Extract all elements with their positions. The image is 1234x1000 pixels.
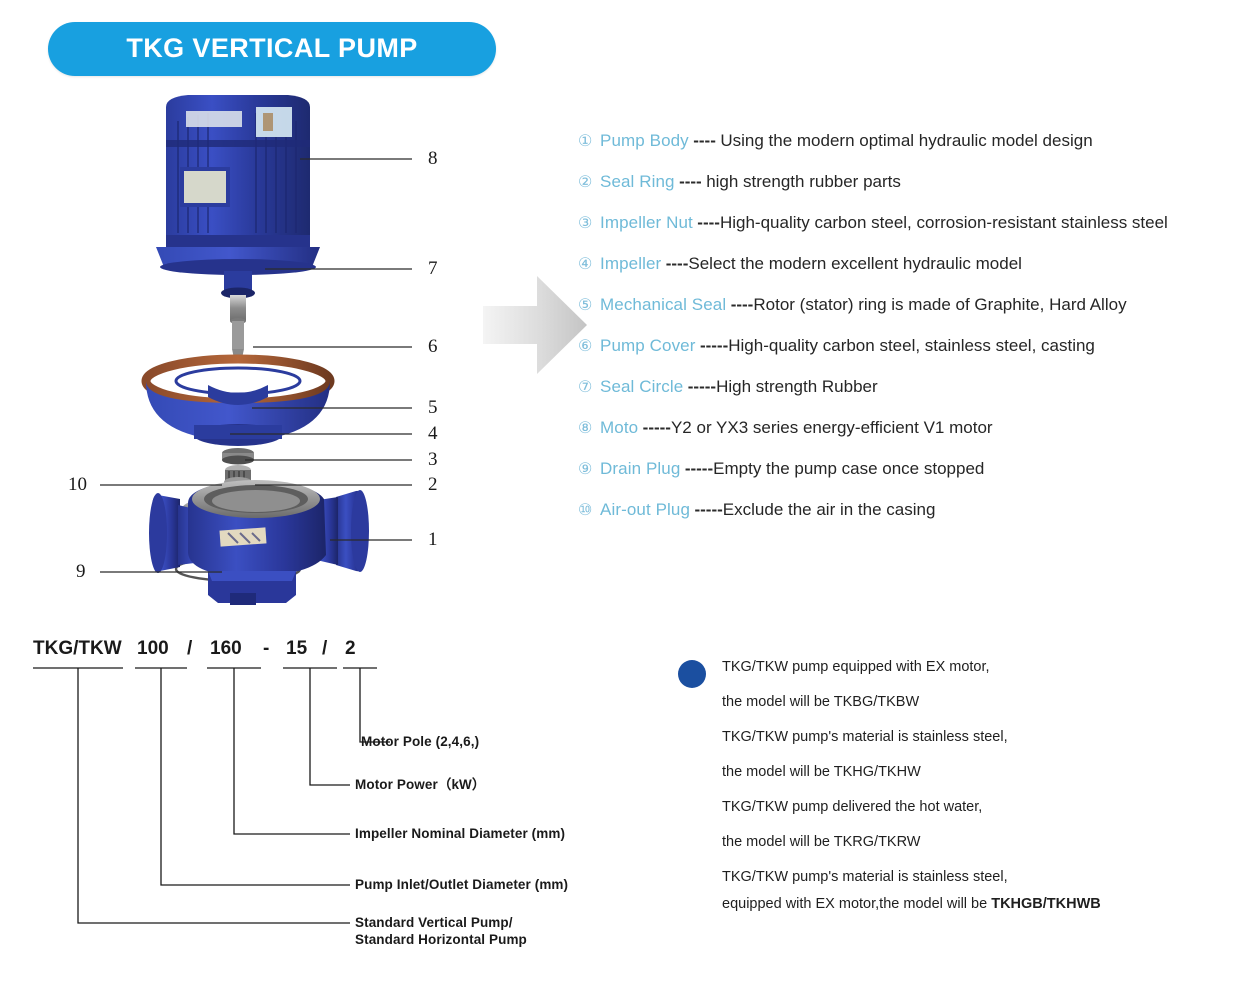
variant-note-line-6: the model will be TKRG/TKRW [722,830,1218,865]
variant-note-line-5: TKG/TKW pump delivered the hot water, [722,795,1218,830]
legend-dash-9: ----- [685,459,713,478]
legend-marker-icon-2: ② [578,168,600,198]
variant-note-line-8: equipped with EX motor,the model will be… [722,892,1218,919]
branch-label-inlet-outlet: Pump Inlet/Outlet Diameter (mm) [355,876,568,893]
legend-description-4: Select the modern excellent hydraulic mo… [688,254,1022,273]
pump-product-infographic: TKG VERTICAL PUMP [0,0,1234,1000]
branch-label-standard-pump: Standard Vertical Pump/ Standard Horizon… [355,914,527,948]
callout-number-6: 6 [428,337,438,356]
legend-description-5: Rotor (stator) ring is made of Graphite,… [753,295,1126,314]
legend-item-4: ④Impeller ----Select the modern excellen… [578,249,1228,290]
callout-number-2: 2 [428,475,438,494]
variant-note-line-8-model: TKHGB/TKHWB [991,896,1101,912]
mechanical-seal-part [222,448,254,487]
callout-number-1: 1 [428,530,438,549]
parts-legend: ①Pump Body ---- Using the modern optimal… [578,126,1228,536]
seal-ring-part [176,557,300,581]
legend-part-name-6: Pump Cover [600,336,695,355]
legend-dash-6: ----- [700,336,728,355]
legend-marker-icon-1: ① [578,127,600,157]
legend-item-9: ⑨Drain Plug -----Empty the pump case onc… [578,454,1228,495]
legend-item-1: ①Pump Body ---- Using the modern optimal… [578,126,1228,167]
legend-item-2: ②Seal Ring ---- high strength rubber par… [578,167,1228,208]
legend-description-7: High strength Rubber [716,377,878,396]
page-title: TKG VERTICAL PUMP [48,33,496,64]
callout-number-7: 7 [428,259,438,278]
callout-number-8: 8 [428,149,438,168]
legend-part-name-7: Seal Circle [600,377,683,396]
legend-part-name-8: Moto [600,418,638,437]
legend-dash-4: ---- [666,254,689,273]
legend-marker-icon-7: ⑦ [578,373,600,403]
callout-number-4: 4 [428,424,438,443]
model-code-breakdown: TKG/TKW 100 / 160 - 15 / 2 [25,630,625,960]
legend-marker-icon-8: ⑧ [578,414,600,444]
branch-label-impeller-dia: Impeller Nominal Diameter (mm) [355,825,565,842]
legend-dash-2: ---- [679,172,702,191]
impeller-nut-part [227,539,249,556]
variant-note-line-4: the model will be TKHG/TKHW [722,760,1218,795]
legend-item-7: ⑦Seal Circle -----High strength Rubber [578,372,1228,413]
legend-marker-icon-6: ⑥ [578,332,600,362]
motor-part [156,95,320,275]
legend-item-8: ⑧Moto -----Y2 or YX3 series energy-effic… [578,413,1228,454]
variant-note-line-7: TKG/TKW pump's material is stainless ste… [722,865,1218,892]
callout-number-3: 3 [428,450,438,469]
legend-marker-icon-10: ⑩ [578,496,600,526]
legend-marker-icon-4: ④ [578,250,600,280]
legend-dash-7: ----- [688,377,716,396]
legend-part-name-4: Impeller [600,254,661,273]
legend-description-3: High-quality carbon steel, corrosion-res… [720,213,1168,232]
callout-number-10: 10 [68,475,87,494]
legend-item-5: ⑤Mechanical Seal ----Rotor (stator) ring… [578,290,1228,331]
legend-part-name-9: Drain Plug [600,459,680,478]
legend-description-9: Empty the pump case once stopped [713,459,984,478]
legend-item-6: ⑥Pump Cover -----High-quality carbon ste… [578,331,1228,372]
legend-marker-icon-5: ⑤ [578,291,600,321]
legend-marker-icon-9: ⑨ [578,455,600,485]
variant-note-line-8-text: equipped with EX motor,the model will be [722,896,991,912]
pump-cover-part [146,359,330,446]
branch-label-standard-pump-line2: Standard Horizontal Pump [355,931,527,948]
legend-description-10: Exclude the air in the casing [723,500,936,519]
callout-number-9: 9 [76,562,86,581]
right-arrow-icon [483,272,587,378]
legend-item-3: ③Impeller Nut ----High-quality carbon st… [578,208,1228,249]
legend-marker-icon-3: ③ [578,209,600,239]
branch-label-motor-pole: Motor Pole (2,4,6,) [361,733,479,750]
legend-item-10: ⑩Air-out Plug -----Exclude the air in th… [578,495,1228,536]
shaft-part [221,271,255,363]
legend-dash-5: ---- [731,295,754,314]
legend-description-2: high strength rubber parts [706,172,901,191]
legend-description-8: Y2 or YX3 series energy-efficient V1 mot… [671,418,993,437]
impeller-part [182,495,294,534]
legend-part-name-10: Air-out Plug [600,500,690,519]
legend-description-6: High-quality carbon steel, stainless ste… [728,336,1095,355]
legend-part-name-2: Seal Ring [600,172,675,191]
legend-dash-1: ---- [693,131,716,150]
legend-part-name-3: Impeller Nut [600,213,693,232]
branch-label-standard-pump-line1: Standard Vertical Pump/ [355,914,527,931]
variant-model-notes: TKG/TKW pump equipped with EX motor, the… [678,655,1218,919]
variant-note-line-1: TKG/TKW pump equipped with EX motor, [722,655,1218,690]
legend-dash-10: ----- [694,500,722,519]
variant-note-line-2: the model will be TKBG/TKBW [722,690,1218,725]
variant-note-line-3: TKG/TKW pump's material is stainless ste… [722,725,1218,760]
legend-part-name-5: Mechanical Seal [600,295,726,314]
bullet-point-icon [678,660,706,688]
callout-number-5: 5 [428,398,438,417]
legend-dash-3: ---- [697,213,720,232]
legend-dash-8: ----- [643,418,671,437]
legend-part-name-1: Pump Body [600,131,689,150]
page-title-banner: TKG VERTICAL PUMP [48,22,496,76]
exploded-pump-figure [60,85,480,595]
branch-label-motor-power: Motor Power（kW） [355,776,486,793]
legend-description-1: Using the modern optimal hydraulic model… [720,131,1092,150]
